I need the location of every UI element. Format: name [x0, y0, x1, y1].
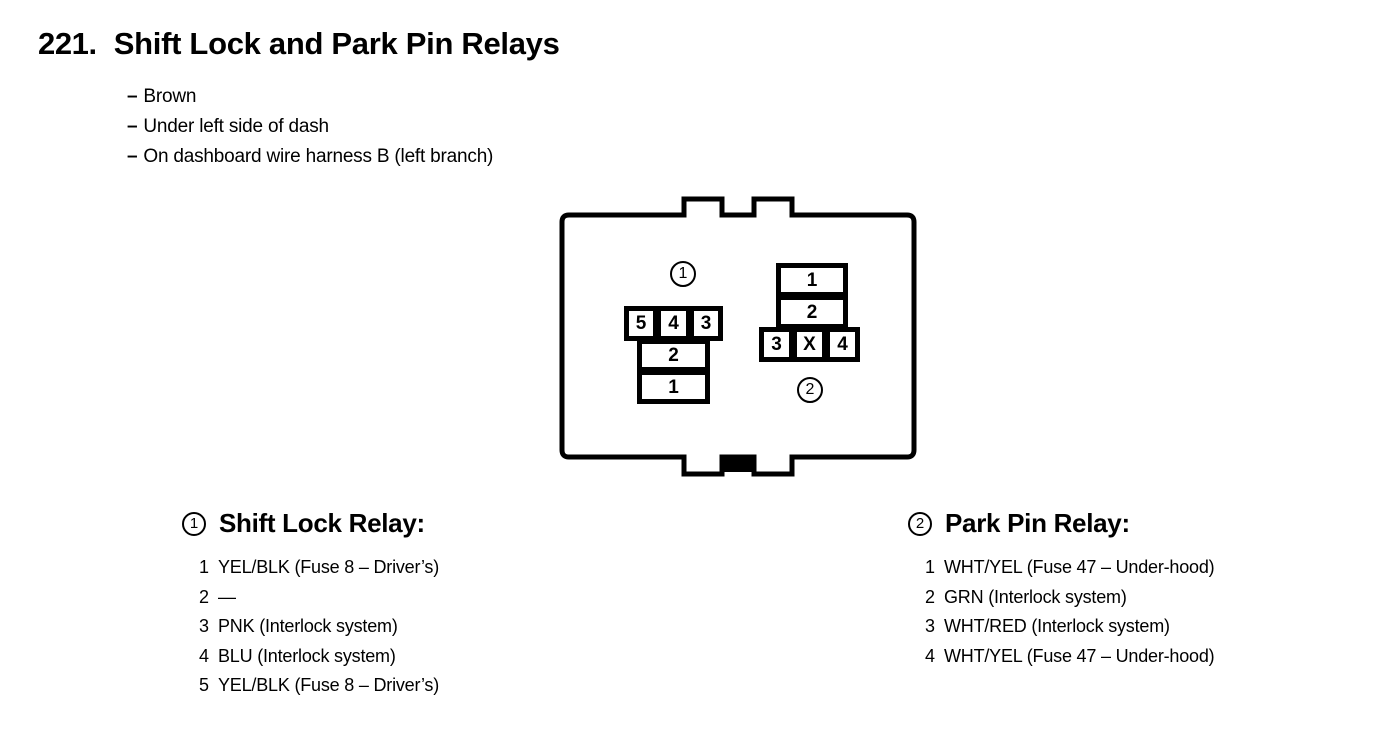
shift-lock-relay-pin-block: 5 4 3 2 1	[624, 306, 728, 406]
pin-number: 4	[193, 642, 209, 672]
pin-row: 1 YEL/BLK (Fuse 8 – Driver’s)	[193, 553, 439, 583]
pin-cell-2: 2	[637, 339, 710, 372]
pin-row: 2 —	[193, 583, 439, 613]
pin-row: 4 BLU (Interlock system)	[193, 642, 439, 672]
callout-marker-2: 2	[797, 377, 823, 403]
note-item: –Brown	[127, 82, 493, 112]
pin-cell-x: X	[792, 327, 827, 362]
pin-description: BLU (Interlock system)	[218, 642, 396, 672]
pin-cell-2: 2	[776, 295, 848, 329]
pin-number: 2	[919, 583, 935, 613]
pin-row: 2 GRN (Interlock system)	[919, 583, 1214, 613]
note-item: –Under left side of dash	[127, 112, 493, 142]
pin-description: —	[218, 583, 236, 613]
park-pin-relay-pin-block: 1 2 3 X 4	[759, 263, 865, 364]
legend-shift-lock-relay: 1 Shift Lock Relay: 1 YEL/BLK (Fuse 8 – …	[182, 508, 439, 701]
connector-housing-outline	[556, 192, 920, 486]
note-text: Under left side of dash	[143, 116, 329, 137]
pin-number: 5	[193, 671, 209, 701]
pin-row: 3 WHT/RED (Interlock system)	[919, 612, 1214, 642]
pin-row: 3 PNK (Interlock system)	[193, 612, 439, 642]
pin-cell-4: 4	[656, 306, 691, 341]
legend-park-pin-relay: 2 Park Pin Relay: 1 WHT/YEL (Fuse 47 – U…	[908, 508, 1214, 671]
note-dash: –	[127, 146, 137, 167]
pin-number: 1	[919, 553, 935, 583]
note-dash: –	[127, 86, 137, 107]
pin-number: 3	[193, 612, 209, 642]
pin-number: 3	[919, 612, 935, 642]
page-title: 221. Shift Lock and Park Pin Relays	[38, 26, 560, 62]
pin-cell-3: 3	[689, 306, 723, 341]
pin-number: 2	[193, 583, 209, 613]
notes-list: –Brown –Under left side of dash –On dash…	[127, 82, 493, 172]
note-text: Brown	[143, 86, 196, 107]
pin-description: GRN (Interlock system)	[944, 583, 1127, 613]
pin-cell-1: 1	[776, 263, 848, 297]
pin-cell-4: 4	[825, 327, 860, 362]
pin-row: 5 YEL/BLK (Fuse 8 – Driver’s)	[193, 671, 439, 701]
pin-cell-1: 1	[637, 370, 710, 404]
pin-description: WHT/YEL (Fuse 47 – Under-hood)	[944, 642, 1214, 672]
note-text: On dashboard wire harness B (left branch…	[143, 146, 493, 167]
section-title: Shift Lock and Park Pin Relays	[114, 26, 560, 62]
pin-assignment-list: 1 WHT/YEL (Fuse 47 – Under-hood) 2 GRN (…	[919, 553, 1214, 671]
pin-description: YEL/BLK (Fuse 8 – Driver’s)	[218, 671, 439, 701]
connector-diagram: 1 2 5 4 3 2 1 1 2 3 X 4	[556, 192, 920, 486]
callout-marker-1: 1	[670, 261, 696, 287]
callout-marker-1: 1	[182, 512, 206, 536]
pin-assignment-list: 1 YEL/BLK (Fuse 8 – Driver’s) 2 — 3 PNK …	[193, 553, 439, 701]
pin-description: YEL/BLK (Fuse 8 – Driver’s)	[218, 553, 439, 583]
section-number: 221.	[38, 26, 97, 62]
note-item: –On dashboard wire harness B (left branc…	[127, 142, 493, 172]
pin-cell-3: 3	[759, 327, 794, 362]
pin-description: PNK (Interlock system)	[218, 612, 398, 642]
pin-number: 1	[193, 553, 209, 583]
pin-description: WHT/YEL (Fuse 47 – Under-hood)	[944, 553, 1214, 583]
legend-header: 2 Park Pin Relay:	[908, 508, 1214, 539]
note-dash: –	[127, 116, 137, 137]
callout-marker-2: 2	[908, 512, 932, 536]
pin-cell-5: 5	[624, 306, 658, 341]
legend-title: Shift Lock Relay:	[219, 508, 425, 539]
pin-row: 4 WHT/YEL (Fuse 47 – Under-hood)	[919, 642, 1214, 672]
legend-header: 1 Shift Lock Relay:	[182, 508, 439, 539]
pin-description: WHT/RED (Interlock system)	[944, 612, 1170, 642]
legend-title: Park Pin Relay:	[945, 508, 1130, 539]
pin-row: 1 WHT/YEL (Fuse 47 – Under-hood)	[919, 553, 1214, 583]
pin-number: 4	[919, 642, 935, 672]
